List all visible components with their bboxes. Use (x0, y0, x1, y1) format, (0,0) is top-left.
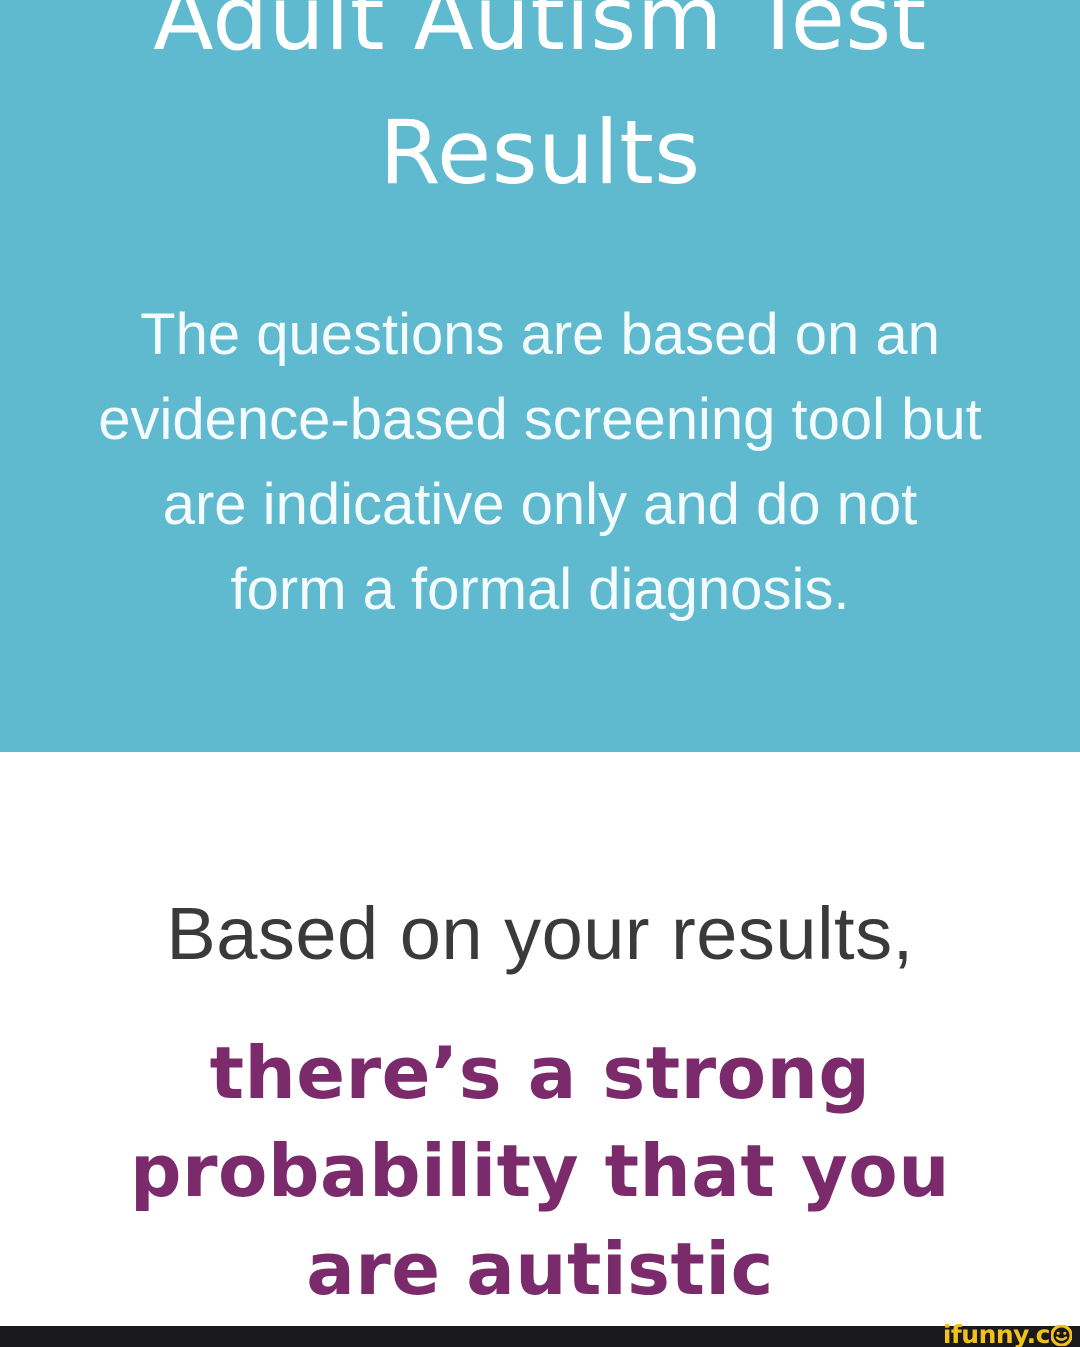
result-verdict-text: there’s a strong probability that you ar… (40, 1024, 1040, 1318)
result-card: Adult Autism Test Results The questions … (0, 0, 1080, 1347)
ifunny-watermark: ifunny.c (943, 1322, 1072, 1347)
smiley-face-icon (1051, 1325, 1072, 1346)
hero-disclaimer-text: The questions are based on an evidence-b… (60, 292, 1020, 632)
page-title: Adult Autism Test Results (0, 0, 1080, 220)
footer-bar (0, 1326, 1080, 1347)
hero-banner: Adult Autism Test Results The questions … (0, 0, 1080, 752)
watermark-label: ifunny.c (943, 1322, 1050, 1347)
result-section: Based on your results, there’s a strong … (0, 752, 1080, 1326)
result-lead-text: Based on your results, (0, 892, 1080, 976)
